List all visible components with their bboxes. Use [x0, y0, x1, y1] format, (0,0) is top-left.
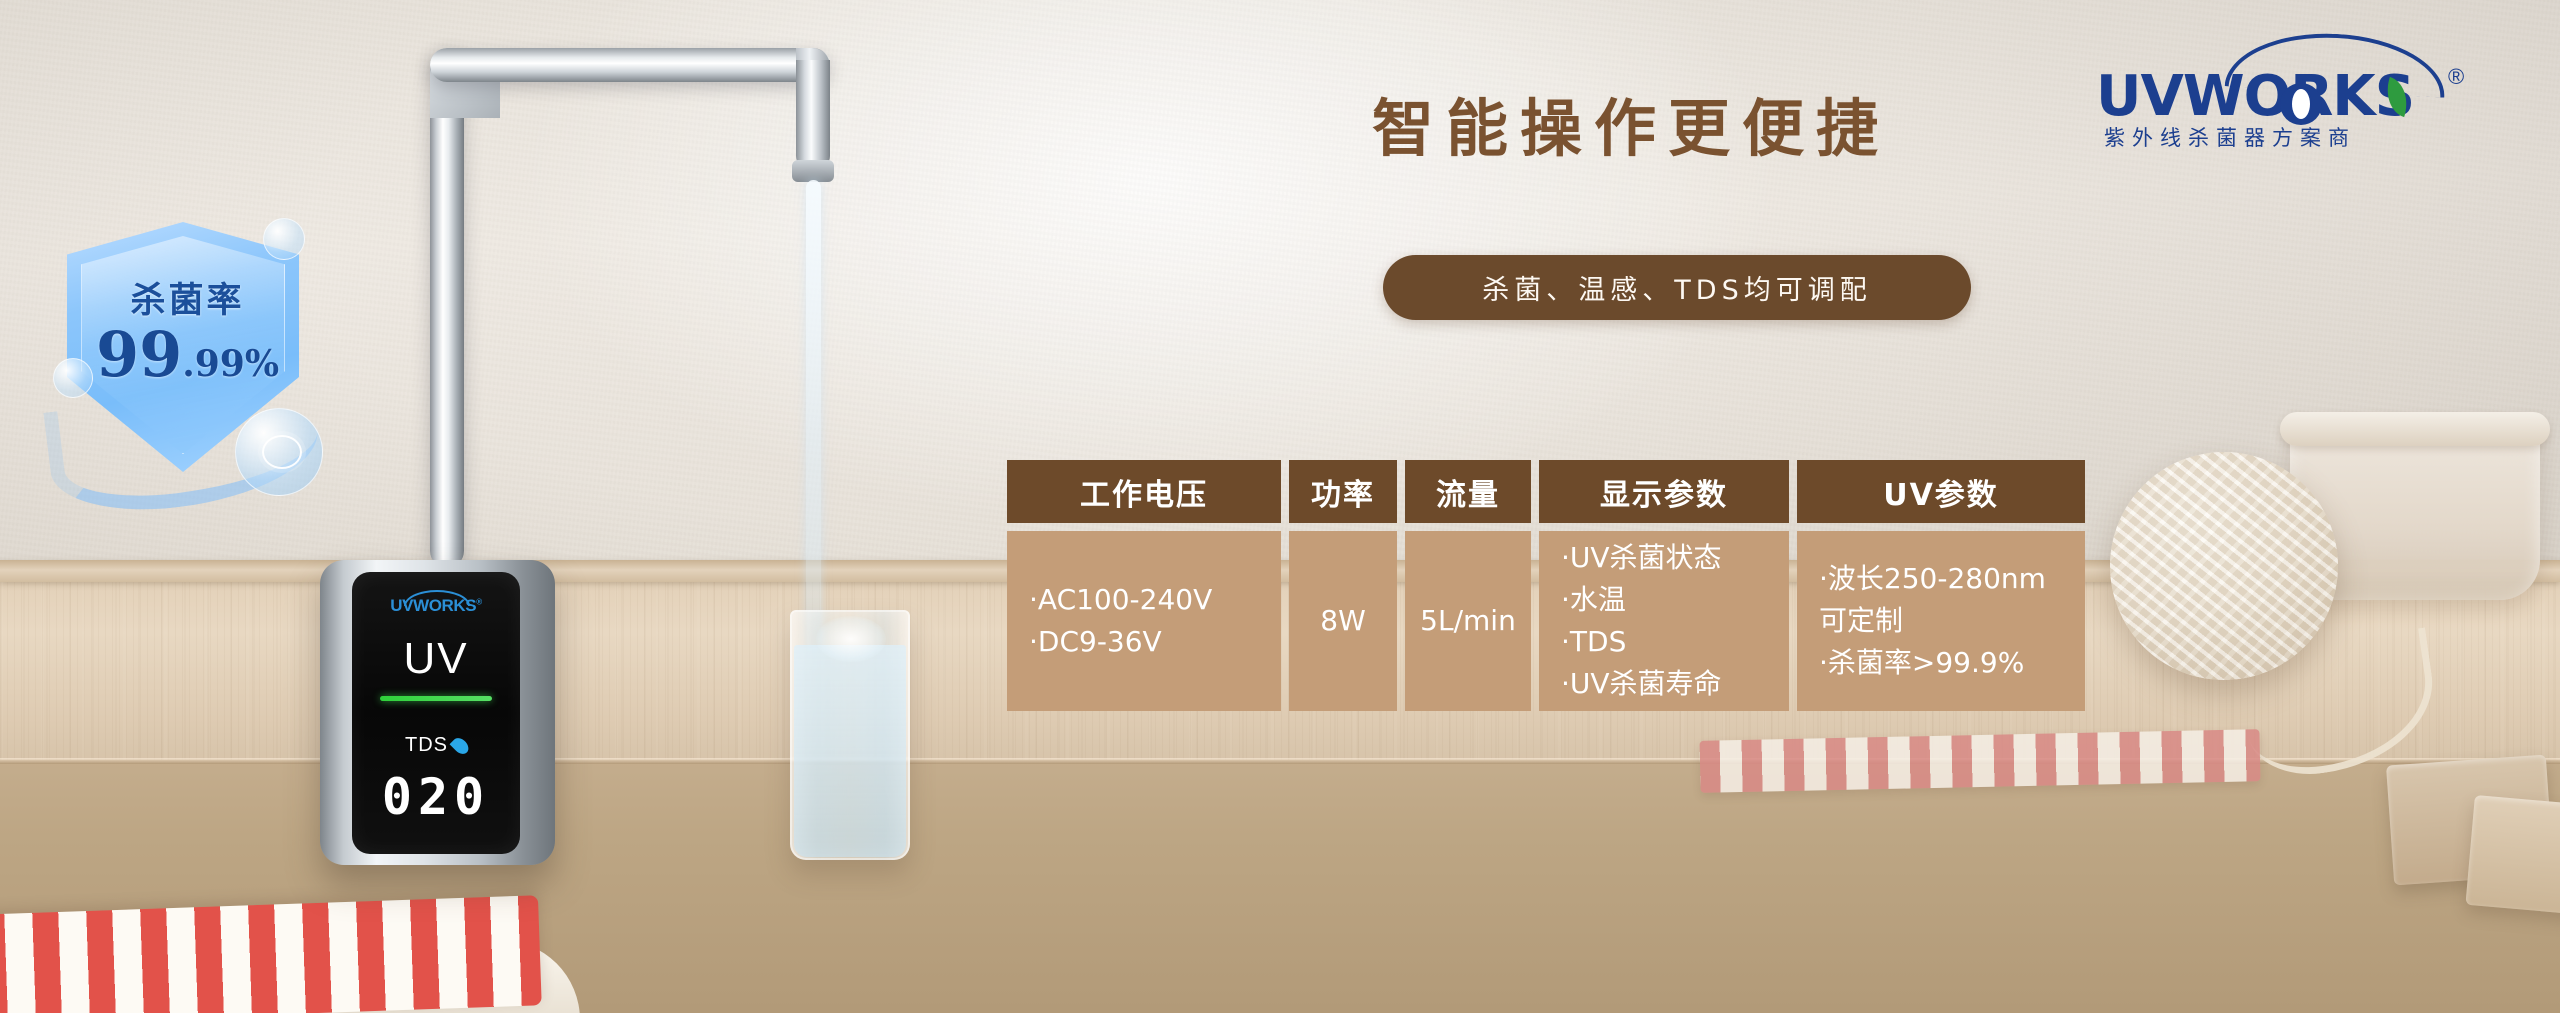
feature-pill-label: 杀菌、温感、TDS均可调配 [1482, 268, 1871, 307]
spec-column-power: 功率 8W [1289, 460, 1397, 711]
spec-column-flow: 流量 5L/min [1405, 460, 1531, 711]
page-title: 智能操作更便捷 [1372, 78, 1890, 168]
spec-header-flow: 流量 [1405, 460, 1531, 523]
spec-header-uv: UV参数 [1797, 460, 2085, 523]
spec-cell-display: ·UV杀菌状态 ·水温 ·TDS ·UV杀菌寿命 [1539, 531, 1789, 711]
spec-line: ·UV杀菌状态 [1561, 537, 1722, 579]
faucet-horizontal-pipe [430, 48, 830, 82]
spec-line: ·杀菌率>99.9% [1819, 642, 2024, 684]
bubble-icon [263, 218, 305, 260]
device-tds-label: TDS [405, 734, 448, 757]
red-checkered-cloth-prop [0, 895, 542, 1013]
water-drop-icon [450, 735, 472, 757]
spec-column-uv: UV参数 ·波长250-280nm 可定制 ·杀菌率>99.9% [1797, 460, 2085, 711]
brand-name: UVWORKS [2096, 64, 2414, 129]
faucet-nozzle [792, 160, 834, 182]
sterilization-rate-badge: 杀菌率 99.99% [35, 210, 340, 500]
badge-value-minor: .99% [182, 343, 279, 385]
spec-line: ·水温 [1561, 579, 1626, 621]
wood-block-prop-2 [2465, 795, 2560, 915]
spec-line: 8W [1320, 600, 1366, 642]
badge-value-major: 99 [96, 318, 182, 391]
spec-line: ·UV杀菌寿命 [1561, 663, 1722, 705]
spec-cell-flow: 5L/min [1405, 531, 1531, 711]
brand-logo: UVWORKS ® 紫外线杀菌器方案商 [2096, 36, 2486, 146]
spec-header-voltage: 工作电压 [1007, 460, 1281, 523]
spec-line: 可定制 [1819, 600, 1903, 642]
glass-water-fill [794, 645, 906, 857]
spec-cell-power: 8W [1289, 531, 1397, 711]
faucet-downspout [796, 60, 830, 170]
spec-column-voltage: 工作电压 ·AC100-240V ·DC9-36V [1007, 460, 1281, 711]
spec-header-power: 功率 [1289, 460, 1397, 523]
germ-icon [235, 408, 323, 496]
spec-line: 5L/min [1420, 600, 1516, 642]
device-tds-value: 020 [352, 768, 520, 826]
spec-line: ·DC9-36V [1029, 621, 1162, 663]
spec-cell-voltage: ·AC100-240V ·DC9-36V [1007, 531, 1281, 711]
spec-header-display: 显示参数 [1539, 460, 1789, 523]
device-status-bar [380, 696, 492, 701]
bubble-icon-2 [53, 358, 93, 398]
device-screen: UVWORKS® UV TDS 020 [352, 572, 520, 854]
feature-pill: 杀菌、温感、TDS均可调配 [1383, 255, 1971, 320]
device-brand-name: UVWORKS [390, 596, 476, 615]
spec-line: ·TDS [1561, 621, 1626, 663]
water-splash [816, 616, 886, 662]
spec-table: 工作电压 ·AC100-240V ·DC9-36V 功率 8W 流量 5L/mi… [1007, 460, 2085, 711]
badge-title: 杀菌率 [35, 272, 340, 323]
sun-burst-icon [2280, 83, 2322, 125]
device-brand-logo: UVWORKS® [352, 596, 520, 616]
brand-tagline: 紫外线杀菌器方案商 [2104, 122, 2356, 152]
spec-line: ·波长250-280nm [1819, 558, 2046, 600]
spec-line: ·AC100-240V [1029, 579, 1212, 621]
registered-trademark-icon: ® [2448, 64, 2464, 90]
banner-scene: UVWORKS® UV TDS 020 杀菌率 99.99% 智能操作更便捷 杀… [0, 0, 2560, 1013]
device-mode-label: UV [352, 634, 520, 684]
device-tds-row: TDS [352, 734, 520, 757]
basket-rim [2280, 412, 2550, 446]
spec-column-display: 显示参数 ·UV杀菌状态 ·水温 ·TDS ·UV杀菌寿命 [1539, 460, 1789, 711]
spec-cell-uv: ·波长250-280nm 可定制 ·杀菌率>99.9% [1797, 531, 2085, 711]
faucet-vertical-pipe [430, 48, 464, 568]
water-stream [806, 180, 821, 650]
device-brand-registered: ® [476, 597, 482, 606]
